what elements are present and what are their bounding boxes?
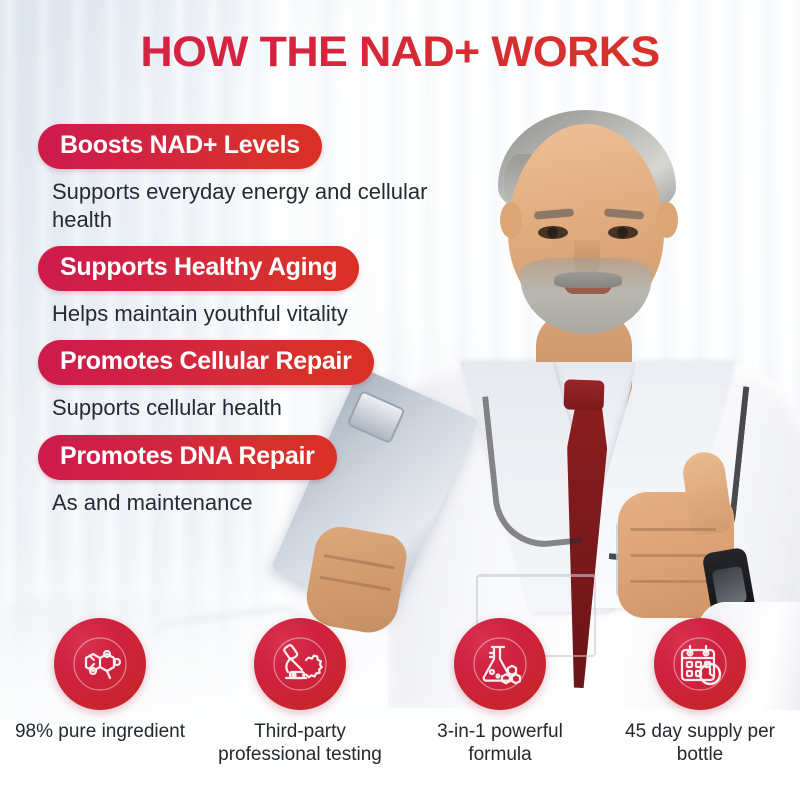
- moustache: [554, 272, 622, 288]
- benefit-badge: Promotes DNA Repair: [38, 435, 337, 480]
- benefits-list: Boosts NAD+ Levels Supports everyday ene…: [0, 124, 520, 529]
- benefit-description: Supports cellular health: [52, 394, 452, 422]
- knuckle-line: [630, 554, 716, 557]
- benefit-description: Supports everyday energy and cellular he…: [52, 178, 452, 234]
- benefit-badge: Supports Healthy Aging: [38, 246, 359, 291]
- knuckle-line: [630, 580, 716, 583]
- eye: [538, 226, 568, 239]
- flask-icon: [454, 618, 546, 710]
- ear: [656, 202, 678, 238]
- benefit-item-3: Promotes Cellular Repair Supports cellul…: [0, 340, 520, 422]
- feature-caption: 3-in-1 powerful formula: [405, 721, 595, 767]
- knuckle-line: [630, 528, 716, 531]
- necktie-knot: [563, 379, 604, 410]
- benefit-item-2: Supports Healthy Aging Helps maintain yo…: [0, 246, 520, 328]
- feature-caption: 98% pure ingredient: [5, 721, 195, 744]
- benefit-item-4: Promotes DNA Repair As and maintenance: [0, 435, 520, 517]
- feature-highlights: 98% pure ingredient Third-party professi…: [0, 618, 800, 767]
- feature-item-purity: 98% pure ingredient: [5, 618, 195, 744]
- benefit-description: As and maintenance: [52, 489, 452, 517]
- calendar-clock-icon: [654, 618, 746, 710]
- benefit-badge: Promotes Cellular Repair: [38, 340, 374, 385]
- infographic-canvas: HOW THE NAD+ WORKS Boosts NAD+ Levels Su…: [0, 0, 800, 800]
- feature-caption: 45 day supply per bottle: [605, 721, 795, 767]
- feature-item-supply: 45 day supply per bottle: [605, 618, 795, 767]
- microscope-icon: [254, 618, 346, 710]
- beard: [520, 258, 652, 334]
- benefit-item-1: Boosts NAD+ Levels Supports everyday ene…: [0, 124, 520, 234]
- page-title: HOW THE NAD+ WORKS: [0, 28, 800, 77]
- benefit-description: Helps maintain youthful vitality: [52, 300, 452, 328]
- eye: [608, 226, 638, 239]
- feature-item-testing: Third-party professional testing: [205, 618, 395, 767]
- feature-caption: Third-party professional testing: [205, 721, 395, 767]
- benefit-badge: Boosts NAD+ Levels: [38, 124, 322, 169]
- molecule-icon: [54, 618, 146, 710]
- feature-item-formula: 3-in-1 powerful formula: [405, 618, 595, 767]
